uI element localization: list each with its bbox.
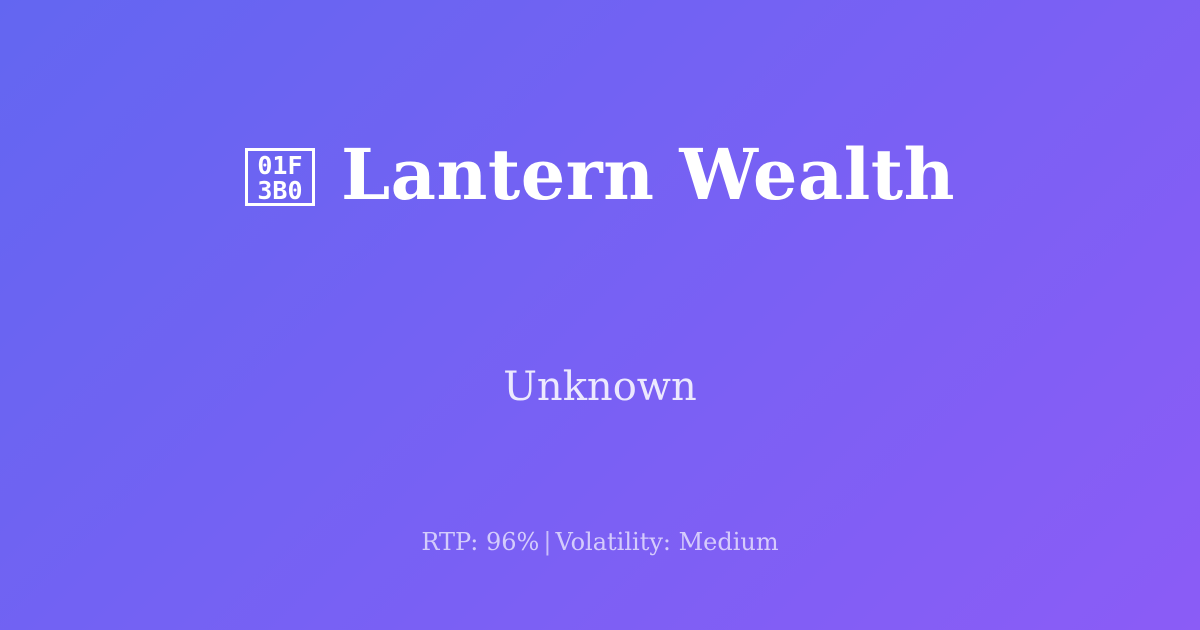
meta-separator: | bbox=[539, 528, 555, 556]
volatility-label: Volatility: Medium bbox=[555, 528, 778, 556]
rtp-label: RTP: 96% bbox=[421, 528, 539, 556]
tofu-codepoint-top: 01F bbox=[257, 153, 302, 178]
page-title: Lantern Wealth bbox=[341, 140, 955, 210]
card-subtitle: Unknown bbox=[0, 363, 1200, 411]
title-row: 01F 3B0 Lantern Wealth bbox=[0, 0, 1200, 350]
og-preview-card: 01F 3B0 Lantern Wealth Unknown RTP: 96%|… bbox=[0, 0, 1200, 630]
card-meta-line: RTP: 96%|Volatility: Medium bbox=[0, 527, 1200, 557]
slot-machine-icon: 01F 3B0 bbox=[245, 148, 315, 206]
tofu-codepoint-bottom: 3B0 bbox=[257, 178, 302, 203]
